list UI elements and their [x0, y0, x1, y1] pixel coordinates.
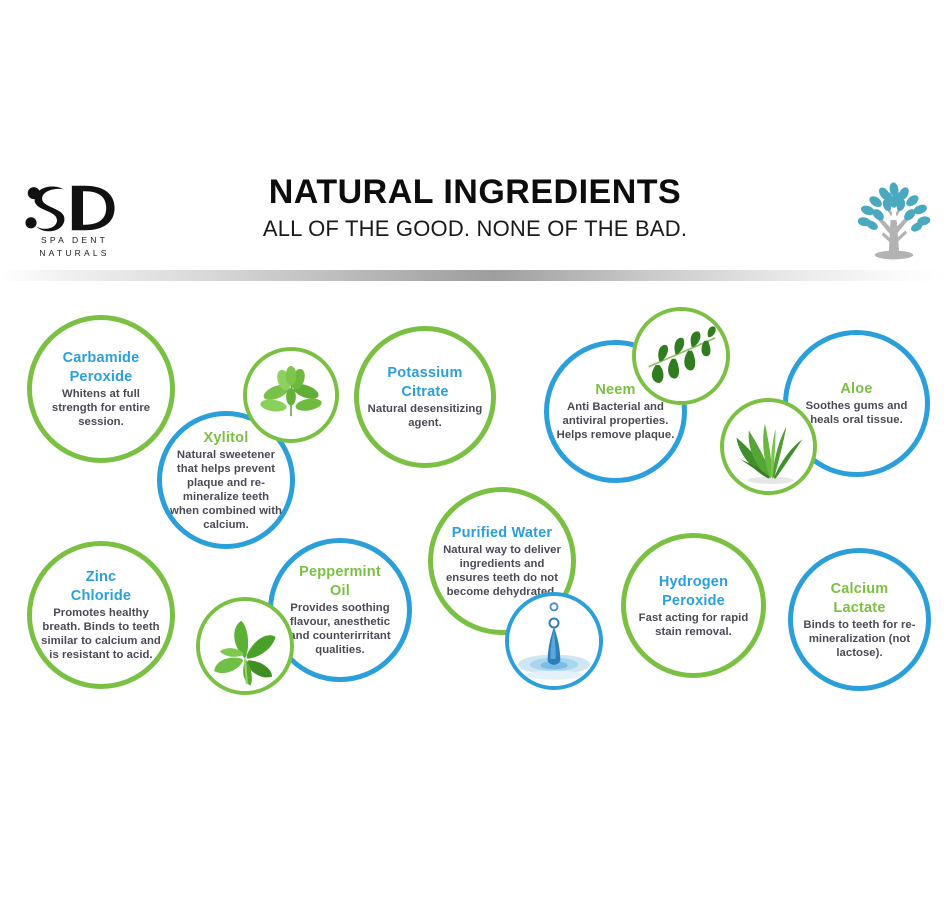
ingredient-description: Soothes gums and heals oral tissue. [794, 399, 919, 427]
image-circle-water-droplet [505, 592, 603, 690]
image-circle-mint-leaves [196, 597, 294, 695]
aloe-plant-icon [724, 402, 813, 491]
ingredient-title: Purified Water [439, 524, 565, 542]
ingredient-circle-potassium-citrate[interactable]: Potassium Citrate Natural desensitizing … [354, 326, 496, 468]
ingredient-title: Zinc [38, 568, 164, 586]
ingredient-circle-hydrogen-peroxide[interactable]: Hydrogen Peroxide Fast acting for rapid … [621, 533, 766, 678]
ingredient-title-line2: Citrate [365, 383, 485, 401]
ingredient-description: Natural way to deliver ingredients and e… [439, 543, 565, 599]
ingredient-description: Promotes healthy breath. Binds to teeth … [38, 606, 164, 662]
ingredient-description: Natural desensitizing agent. [365, 402, 485, 430]
ingredient-description: Natural sweetener that helps prevent pla… [168, 448, 284, 532]
ingredient-title: Calcium [799, 580, 920, 598]
image-circle-neem-leaf [632, 307, 730, 405]
page-header: SPA DENT NATURALS NATURAL INGREDIENTS AL… [0, 170, 950, 270]
ingredient-description: Anti Bacterial and antiviral properties.… [555, 400, 676, 442]
tree-icon [850, 178, 938, 262]
ingredient-description: Provides soothing flavour, anesthetic an… [279, 601, 401, 657]
image-circle-green-leaves [243, 347, 339, 443]
brand-tagline-line2: NATURALS [21, 247, 128, 260]
ingredient-description: Fast acting for rapid stain removal. [632, 611, 755, 639]
ingredient-title: Hydrogen [632, 573, 755, 591]
ingredient-title-line2: Chloride [38, 587, 164, 605]
ingredient-title-line2: Peroxide [632, 592, 755, 610]
water-droplet-icon [509, 596, 599, 686]
ingredient-title: Carbamide [38, 349, 164, 367]
header-divider [0, 270, 950, 281]
ingredient-title: Aloe [794, 380, 919, 398]
green-leaves-icon [247, 351, 335, 439]
ingredient-circle-calcium-lactate[interactable]: Calcium Lactate Binds to teeth for re-mi… [788, 548, 931, 691]
ingredient-circle-zinc-chloride[interactable]: Zinc Chloride Promotes healthy breath. B… [27, 541, 175, 689]
ingredient-title-line2: Peroxide [38, 368, 164, 386]
ingredient-title-line2: Oil [279, 582, 401, 600]
ingredient-circle-carbamide-peroxide[interactable]: Carbamide Peroxide Whitens at full stren… [27, 315, 175, 463]
infographic-page: SPA DENT NATURALS NATURAL INGREDIENTS AL… [0, 0, 950, 903]
header-title-block: NATURAL INGREDIENTS ALL OF THE GOOD. NON… [0, 170, 950, 244]
image-circle-aloe-plant [720, 398, 817, 495]
ingredient-title: Peppermint [279, 563, 401, 581]
ingredient-title-line2: Lactate [799, 599, 920, 617]
page-subtitle: ALL OF THE GOOD. NONE OF THE BAD. [0, 214, 950, 244]
neem-leaf-icon [636, 311, 726, 401]
mint-leaves-icon [200, 601, 290, 691]
ingredient-description: Binds to teeth for re-mineralization (no… [799, 618, 920, 660]
page-title: NATURAL INGREDIENTS [0, 170, 950, 214]
ingredient-title: Potassium [365, 364, 485, 382]
ingredient-description: Whitens at full strength for entire sess… [38, 387, 164, 429]
